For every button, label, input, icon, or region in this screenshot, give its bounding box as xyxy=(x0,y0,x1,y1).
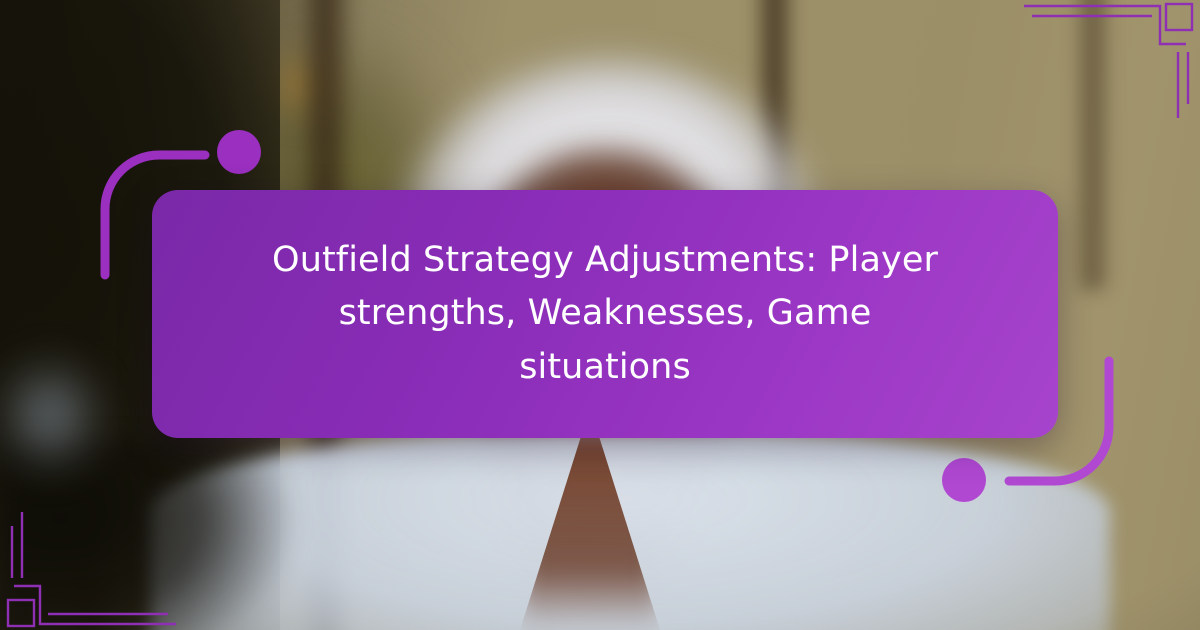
banner-canvas: Outfield Strategy Adjustments: Player st… xyxy=(0,0,1200,630)
page-title: Outfield Strategy Adjustments: Player st… xyxy=(203,234,1007,394)
dot-bottom-right-icon xyxy=(941,457,987,503)
circuit-trace-bottom-left-icon xyxy=(0,500,190,630)
dot-top-left-icon xyxy=(216,129,262,175)
circuit-trace-top-right-icon xyxy=(1010,0,1200,130)
title-card: Outfield Strategy Adjustments: Player st… xyxy=(152,190,1058,438)
